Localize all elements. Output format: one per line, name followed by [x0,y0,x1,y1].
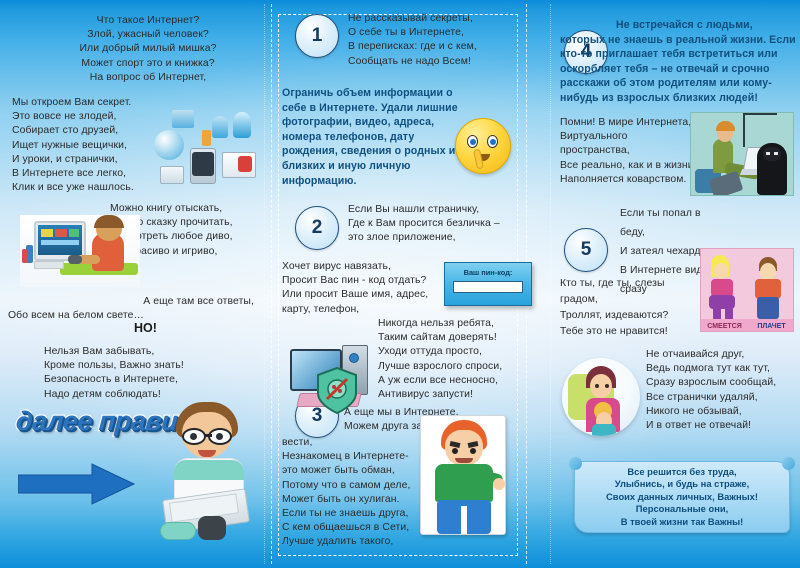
brochure-page: Что такое Интернет? Злой, ужасный челове… [0,0,800,568]
closing-banner-text: Все решится без труда, Улыбнись, и будь … [606,466,758,528]
pin-code-label: Ваш пин-код: [445,268,531,277]
rule-5-verse-2: Кто ты, где ты, слезы градом, Троллят, и… [560,276,678,340]
fold-guide-right [550,4,551,564]
closing-banner: Все решится без труда, Улыбнись, и будь … [574,461,790,533]
pin-code-dialog[interactable]: Ваш пин-код: [444,262,532,306]
mother-and-child-image [562,358,640,436]
rule-number-2: 2 [295,206,339,250]
left-verse-6: Нельзя Вам забывать, Кроме пользы, Важно… [44,345,234,402]
shush-emoji-icon [455,118,511,174]
left-verse-4: А еще там все ответы, [64,295,254,309]
right-closing-verse: Не отчаивайся друг, Ведь подмога тут как… [646,348,798,433]
fold-line-left [271,4,272,564]
kids-label-laughing: СМЕЕТСЯ [707,323,742,330]
banner-curl-left [569,457,582,470]
rule-1-verse: Не рассказывай секреты, О себе ты в Инте… [348,12,520,69]
kids-label-crying: ПЛАЧЕТ [757,323,785,330]
left-verse-5: Обо всем на белом свете… [8,309,208,323]
rule-4-advice: Не встречайся с людьми, которых не знаеш… [560,18,798,106]
rule-2-verse-2: Хочет вирус навязать, Просит Вас пин - к… [282,260,442,317]
rule-2-verse-3: Никогда нельзя ребята, Таким сайтам дове… [378,317,522,402]
antivirus-computer-image [286,345,390,421]
pin-code-input[interactable] [453,281,523,293]
laughing-crying-kids-image: СМЕЕТСЯ ПЛАЧЕТ [700,248,794,332]
left-emphasis-no: НО! [134,321,157,335]
rule-number-1: 1 [295,14,339,58]
gadgets-collage-image [150,108,262,192]
rule-4-verse: Помни! В мире Интернета, Виртуального пр… [560,116,700,187]
girl-at-computer-image [20,215,140,287]
hacker-phishing-image [690,112,794,196]
left-panel: Что такое Интернет? Злой, ужасный челове… [0,0,262,568]
banner-curl-right [782,457,795,470]
rule-3-verse-2: вести, Незнакомец в Интернете- это может… [282,436,432,550]
right-arrow-icon [18,462,136,511]
rule-1-advice: Ограничь объем информации о себе в Интер… [282,86,462,188]
fold-guide-left [264,4,265,564]
bully-boy-image [420,415,506,535]
boy-with-laptop-image [152,398,264,548]
left-verse-1: Что такое Интернет? Злой, ужасный челове… [48,14,248,85]
rule-number-5: 5 [564,228,608,272]
rule-2-verse: Если Вы нашли страничку, Где к Вам проси… [348,203,522,246]
